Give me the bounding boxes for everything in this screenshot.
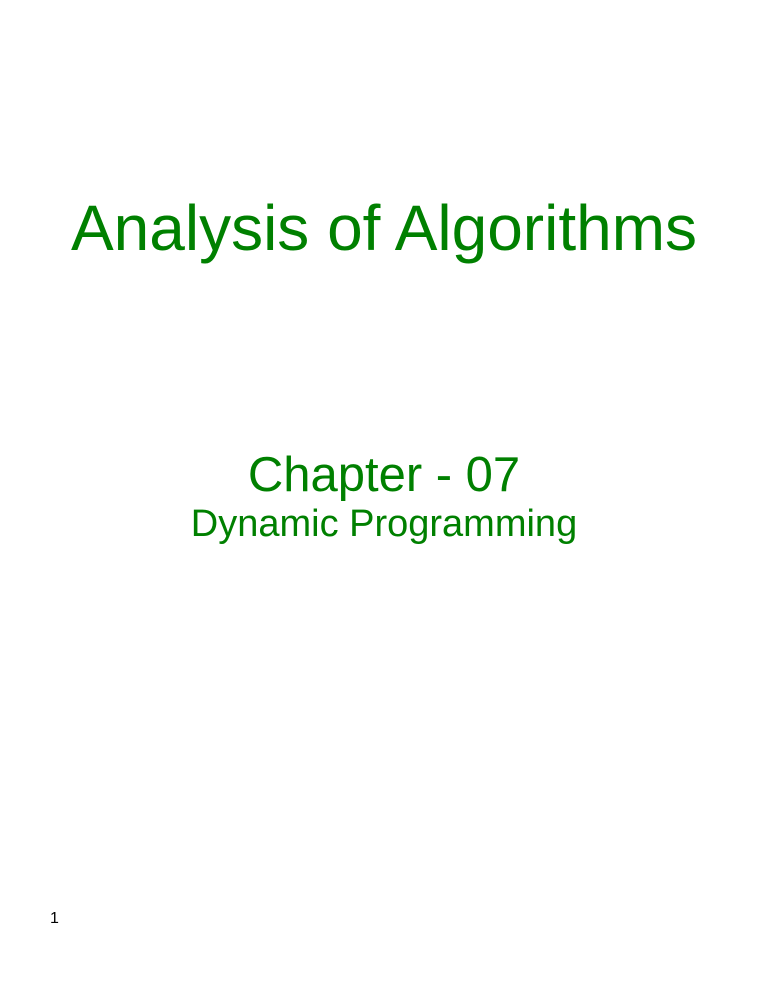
slide-subtitle-topic: Dynamic Programming	[0, 502, 768, 547]
slide-title: Analysis of Algorithms	[0, 196, 768, 260]
presentation-slide: Analysis of Algorithms Chapter - 07 Dyna…	[0, 0, 768, 994]
page-number: 1	[50, 911, 59, 927]
slide-subtitle-chapter: Chapter - 07	[0, 450, 768, 502]
slide-subtitle-block: Chapter - 07 Dynamic Programming	[0, 450, 768, 547]
